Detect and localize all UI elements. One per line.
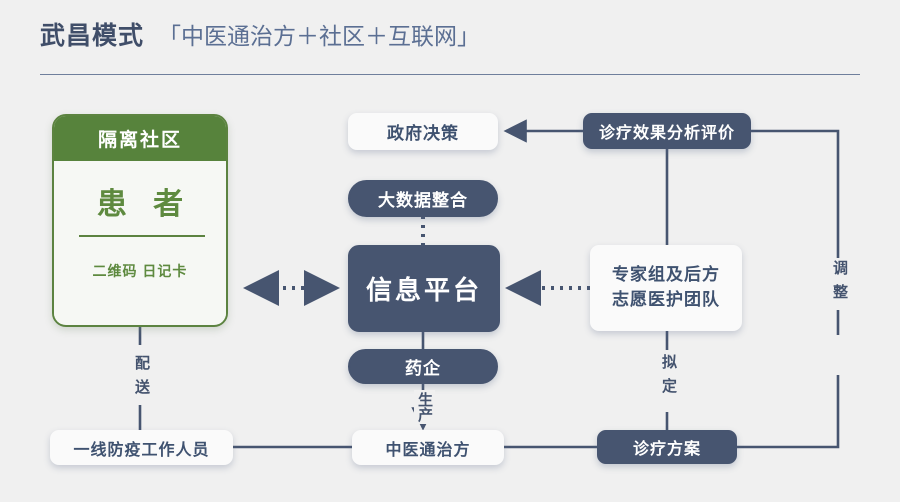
edge-label-delivery: 配送 (131, 353, 152, 405)
edge-adjustment-upper (750, 131, 838, 335)
node-expert-volunteer-team[interactable]: 专家组及后方 志愿医护团队 (590, 245, 742, 331)
node-tcm-general-formula[interactable]: 中医通治方 (352, 430, 504, 465)
node-government-decision[interactable]: 政府决策 (348, 113, 498, 150)
node-information-platform[interactable]: 信息平台 (348, 245, 500, 332)
patient-label: 患 者 (54, 179, 226, 223)
node-treatment-plan[interactable]: 诊疗方案 (597, 430, 737, 464)
edge-label-adjustment: 调整 (829, 258, 850, 310)
expert-team-line-2: 志愿医护团队 (612, 288, 720, 313)
edge-plan-evaluation-loop (737, 375, 838, 447)
edge-label-production: 生产 (414, 390, 435, 424)
node-frontline-epidemic-workers[interactable]: 一线防疫工作人员 (50, 430, 233, 465)
qrcode-diary-label: 二维码 日记卡 (54, 261, 226, 281)
node-big-data-integration[interactable]: 大数据整合 (348, 180, 498, 217)
card-divider (79, 235, 205, 237)
node-treatment-effect-evaluation[interactable]: 诊疗效果分析评价 (583, 113, 751, 149)
isolation-community-header: 隔离社区 (54, 116, 226, 161)
expert-team-line-1: 专家组及后方 (612, 263, 720, 288)
diagram-canvas: 武昌模式 「中医通治方＋社区＋互联网」 (0, 0, 900, 502)
isolation-community-body: 患 者 二维码 日记卡 (54, 161, 226, 324)
edge-label-drafting: 拟定 (658, 352, 679, 404)
node-pharmaceutical-enterprise[interactable]: 药企 (348, 349, 498, 384)
node-isolation-community[interactable]: 隔离社区 患 者 二维码 日记卡 (52, 114, 228, 327)
